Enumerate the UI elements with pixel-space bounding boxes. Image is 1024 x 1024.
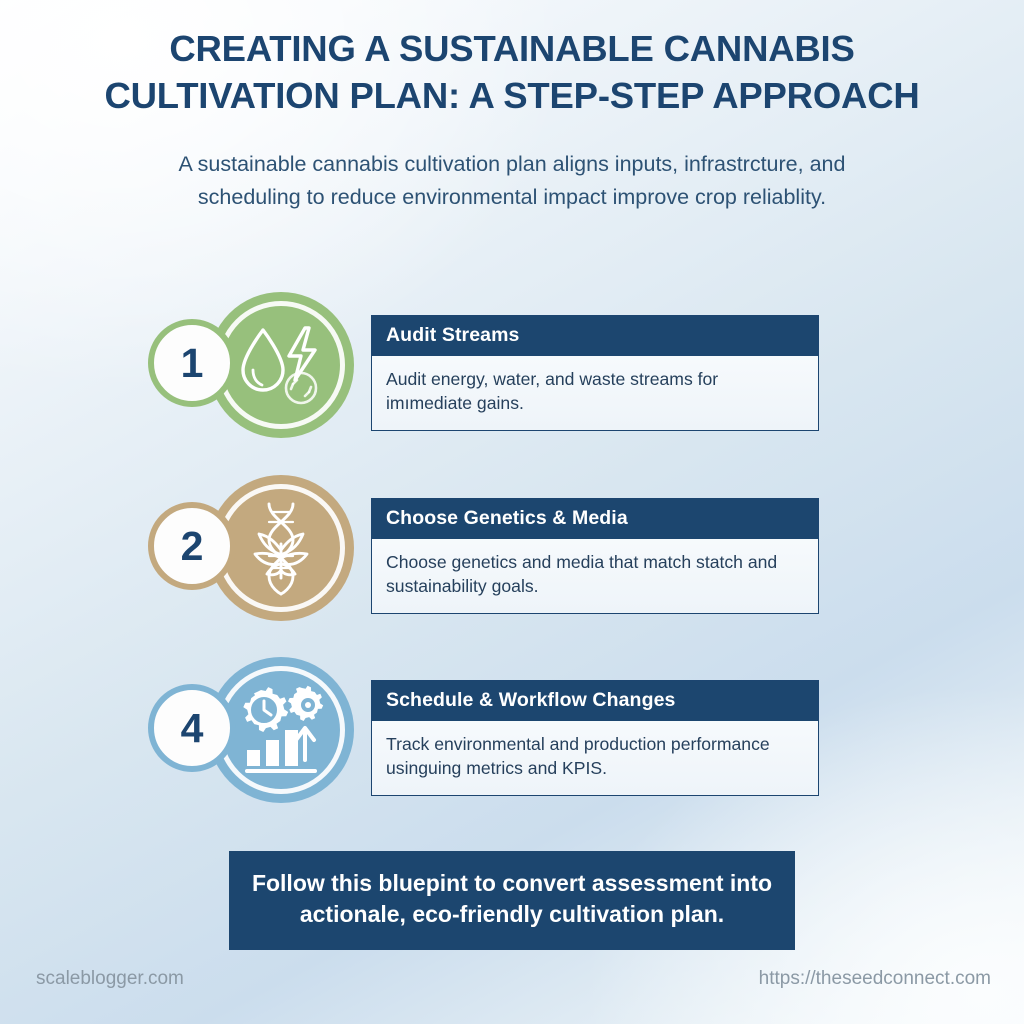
step-2-icon-group: 2 xyxy=(148,468,360,628)
step-3-heading: Schedule & Workflow Changes xyxy=(372,681,818,721)
step-row-2: 2 Choose Genetics & Media Choose genetic… xyxy=(0,468,1024,628)
call-to-action-banner: Follow this bluepint to convert assessme… xyxy=(229,851,795,950)
step-row-3: 4 Schedule & Workflow Changes Track envi… xyxy=(0,650,1024,810)
step-3-card: Schedule & Workflow Changes Track enviro… xyxy=(371,680,819,796)
step-2-number-badge: 2 xyxy=(148,502,236,590)
step-3-body: Track environmental and production perfo… xyxy=(372,721,818,795)
step-3-number: 4 xyxy=(181,705,204,752)
page-subtitle: A sustainable cannabis cultivation plan … xyxy=(152,148,872,213)
step-1-body: Audit energy, water, and waste streams f… xyxy=(372,356,818,430)
step-3-number-badge: 4 xyxy=(148,684,236,772)
step-1-heading: Audit Streams xyxy=(372,316,818,356)
step-row-1: 1 Audit Streams Audit energy, water, and… xyxy=(0,285,1024,445)
step-1-card: Audit Streams Audit energy, water, and w… xyxy=(371,315,819,431)
step-1-number: 1 xyxy=(181,340,204,387)
page-title: CREATING A SUSTAINABLE CANNABIS CULTIVAT… xyxy=(62,26,962,119)
step-2-heading: Choose Genetics & Media xyxy=(372,499,818,539)
step-2-card: Choose Genetics & Media Choose genetics … xyxy=(371,498,819,614)
credit-left: scaleblogger.com xyxy=(36,968,184,990)
step-2-body: Choose genetics and media that match sta… xyxy=(372,539,818,613)
credit-right: https://theseedconnect.com xyxy=(759,968,991,990)
step-1-number-badge: 1 xyxy=(148,319,236,407)
step-1-icon-group: 1 xyxy=(148,285,360,445)
infographic-canvas: CREATING A SUSTAINABLE CANNABIS CULTIVAT… xyxy=(0,0,1024,1024)
step-3-icon-group: 4 xyxy=(148,650,360,810)
step-2-number: 2 xyxy=(181,523,204,570)
